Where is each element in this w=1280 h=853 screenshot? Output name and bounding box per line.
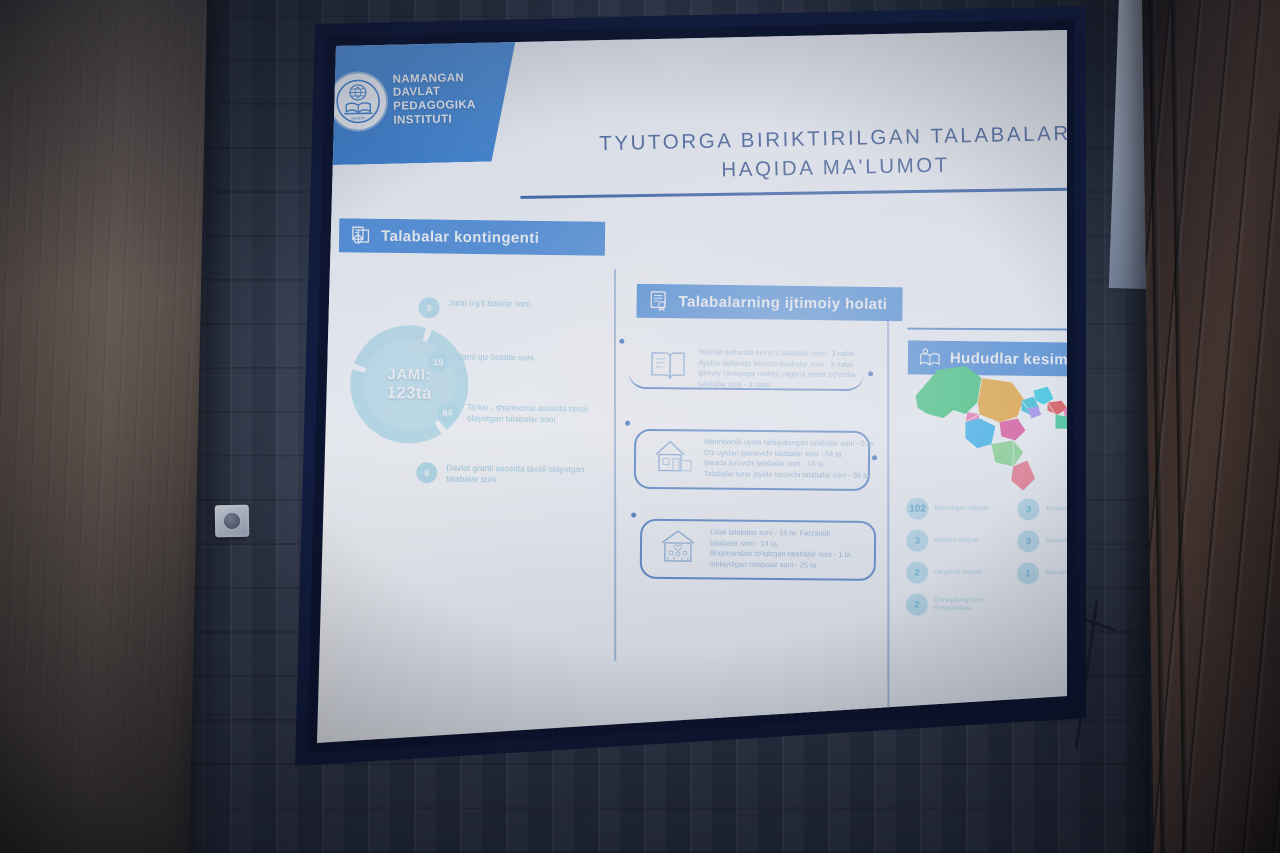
social-line: Mehribonlik uyida tarbiyalangan talabala… xyxy=(704,437,875,448)
screen-surface: NAMDPI NAMANGAN DAVLAT PEDAGOGIKA INSTIT… xyxy=(286,6,1086,766)
contingent-legend-value: 19 xyxy=(428,351,449,372)
uzbekistan-regions-map xyxy=(907,356,1086,503)
title-divider xyxy=(520,187,1086,199)
brand-line-4: INSTITUTI xyxy=(393,112,476,127)
social-line: Ishlaydigan talabalar soni - 25 ta. xyxy=(710,559,819,569)
contingent-legend-item: 84 To'lov - shartnoma asosida tavsil ola… xyxy=(437,402,619,427)
brand-block: NAMDPI NAMANGAN DAVLAT PEDAGOGIKA INSTIT… xyxy=(321,35,528,165)
contingent-legend-label: Jami qiz bolalar soni. xyxy=(458,351,536,363)
region-legend-value: 3 xyxy=(1017,498,1039,520)
photo-stage: NAMDPI NAMANGAN DAVLAT PEDAGOGIKA INSTIT… xyxy=(0,0,1280,853)
regions-legend: 102 Namangan viloyati 3 Toshkent viloyat… xyxy=(906,498,1086,617)
contingent-legend-label: Jami o'g'il bolalar soni. xyxy=(449,298,533,310)
institute-seal-icon: NAMDPI xyxy=(329,73,386,130)
house-icon xyxy=(652,436,696,476)
social-line: Ijarada turuvchi talabalar soni - 14 ta. xyxy=(704,458,826,468)
social-card: Yoshlar daftarida birinchi talabalar son… xyxy=(646,347,856,391)
bullet-dot xyxy=(625,421,630,426)
social-card: Oilali talabalar soni - 15 ta. Farzandli… xyxy=(658,527,853,571)
regions-underline xyxy=(907,328,1086,331)
social-line: Yoshlar daftarida birinchi talabalar son… xyxy=(698,347,856,358)
family-house-icon xyxy=(658,527,702,567)
section-header-contingent-label: Talabalar kontingenti xyxy=(381,227,539,246)
wood-shading-left xyxy=(0,0,207,853)
social-card-text: Oilali talabalar soni - 15 ta. Farzandli… xyxy=(710,527,853,571)
brand-text: NAMANGAN DAVLAT PEDAGOGIKA INSTITUTI xyxy=(392,72,476,128)
region-legend-value: 2 xyxy=(906,594,928,616)
social-card-text: Yoshlar daftarida birinchi talabalar son… xyxy=(698,347,856,391)
social-card: Mehribonlik uyida tarbiyalangan talabala… xyxy=(652,436,875,481)
region-legend-value: 3 xyxy=(1017,530,1039,552)
wood-panel-left xyxy=(0,0,207,853)
brand-line-3: PEDAGOGIKA xyxy=(393,99,476,114)
section-header-contingent: Talabalar kontingenti xyxy=(339,218,605,255)
region-legend-label: Qoraqalpog'iston Respublikasi xyxy=(934,597,1011,613)
presentation-screen[interactable]: NAMDPI NAMANGAN DAVLAT PEDAGOGIKA INSTIT… xyxy=(286,6,1086,766)
svg-text:NAMDPI: NAMDPI xyxy=(351,116,365,120)
section-header-social-label: Talabalarning ijtimoiy holati xyxy=(678,293,887,313)
region-legend-item: 102 Namangan viloyati xyxy=(906,498,1011,521)
contingent-legend-item: 19 Jami qiz bolalar soni. xyxy=(428,351,536,373)
slide-canvas: NAMDPI NAMANGAN DAVLAT PEDAGOGIKA INSTIT… xyxy=(320,9,1086,727)
section-header-social: Talabalarning ijtimoiy holati xyxy=(636,284,902,321)
donut-center-value: 123ta xyxy=(386,383,432,404)
region-legend-label: Farg'ona viloyati xyxy=(934,569,982,577)
social-line: Oilali talabalar soni - 15 ta. Farzandli xyxy=(710,527,830,537)
contingent-legend-label: Davlat granti asosida tavsil olayotgan t… xyxy=(446,462,598,486)
social-line: Boqimandasi to'lqizgan talabalar soni - … xyxy=(710,548,853,559)
region-legend-value: 102 xyxy=(906,498,928,520)
region-legend-label: Namangan viloyati xyxy=(934,505,988,513)
region-legend-value: 1 xyxy=(1017,562,1039,584)
social-line: talabalar soni - 3 nafar. xyxy=(698,379,773,389)
contingent-legend-label: To'lov - shartnoma asosida tavsil olayot… xyxy=(467,402,619,426)
contingent-legend-item: 8 Davlat granti asosida tavsil olayotgan… xyxy=(416,462,598,487)
social-line: talabalar soni - 14 ta. xyxy=(710,538,779,548)
social-line: Talabalar turar joyida turuvchi talabala… xyxy=(704,469,872,480)
donut-center-label: JAMI: xyxy=(387,366,431,384)
certificate-icon xyxy=(646,289,670,313)
region-legend-item: 2 Qoraqalpog'iston Respublikasi xyxy=(906,594,1011,617)
bullet-dot xyxy=(631,512,636,517)
contingent-legend-item: 0 Jami o'g'il bolalar soni. xyxy=(419,297,533,319)
social-line: Ijtimoiy himoyaga muhtoj yagona reestr b… xyxy=(698,368,856,379)
social-line: Ayollar daftarida ikkinchi talabalar son… xyxy=(698,358,855,369)
bullet-dot xyxy=(868,371,873,376)
slide-title: TYUTORGA BIRIKTIRILGAN TALABALAR HAQIDA … xyxy=(555,118,1086,188)
documents-icon xyxy=(349,223,373,247)
social-card-text: Mehribonlik uyida tarbiyalangan talabala… xyxy=(704,437,875,481)
region-legend-value: 2 xyxy=(906,562,928,584)
contingent-legend-value: 84 xyxy=(437,402,458,423)
region-legend-value: 3 xyxy=(906,530,928,552)
region-legend-item: 3 Andijon viloyati xyxy=(906,530,1011,553)
contingent-donut-chart: JAMI: 123ta xyxy=(350,325,470,445)
social-line: O'z uyidan qatnovchi talabalar soni - 54… xyxy=(704,448,844,459)
column-divider-2 xyxy=(887,315,889,715)
region-legend-label: Andijon viloyati xyxy=(934,537,978,545)
book-icon xyxy=(646,347,690,387)
contingent-legend-value: 0 xyxy=(419,297,440,318)
power-outlet[interactable] xyxy=(215,505,250,538)
bullet-dot xyxy=(619,339,624,344)
contingent-legend-value: 8 xyxy=(416,462,437,483)
region-legend-item: 2 Farg'ona viloyati xyxy=(906,562,1011,585)
column-divider-1 xyxy=(614,269,616,661)
